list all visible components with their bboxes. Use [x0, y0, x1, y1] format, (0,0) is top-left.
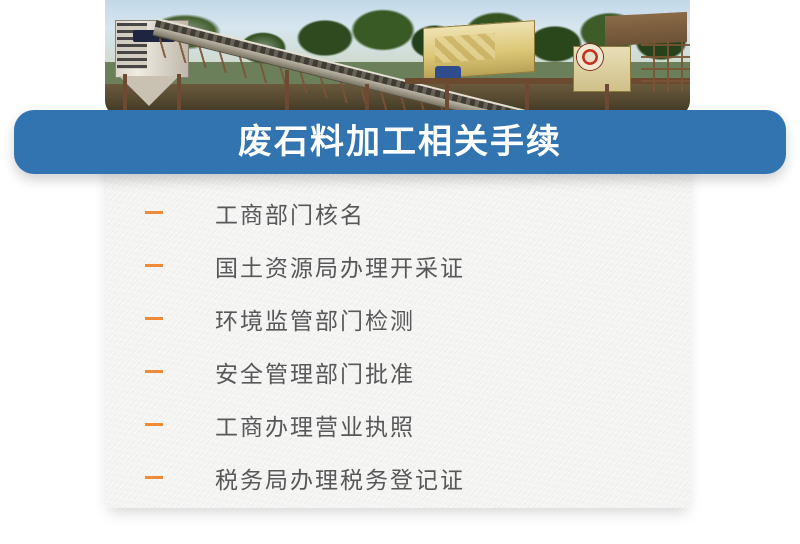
title-banner: 废石料加工相关手续 — [14, 110, 786, 174]
list-item: 税务局办理税务登记证 — [105, 451, 691, 504]
dash-bullet-icon — [145, 317, 163, 320]
banner-title: 废石料加工相关手续 — [238, 125, 562, 159]
list-item: 工商办理营业执照 — [105, 398, 691, 451]
list-item: 环境监管部门检测 — [105, 292, 691, 345]
dash-bullet-icon — [145, 211, 163, 214]
procedure-list: 工商部门核名 国土资源局办理开采证 环境监管部门检测 安全管理部门批准 工商办理… — [105, 186, 691, 504]
list-item-label: 工商办理营业执照 — [215, 408, 415, 442]
hopper-funnel — [119, 76, 179, 106]
list-item: 安全管理部门批准 — [105, 345, 691, 398]
dash-bullet-icon — [145, 423, 163, 426]
list-item-label: 税务局办理税务登记证 — [215, 461, 465, 495]
list-item-label: 国土资源局办理开采证 — [215, 249, 465, 283]
list-item-label: 安全管理部门批准 — [215, 355, 415, 389]
right-steel-frame — [641, 40, 690, 92]
flywheel — [577, 44, 603, 70]
header-photo — [105, 0, 690, 118]
dash-bullet-icon — [145, 370, 163, 373]
crushing-plant-photo — [105, 0, 690, 118]
infographic-root: 工商部门核名 国土资源局办理开采证 环境监管部门检测 安全管理部门批准 工商办理… — [0, 0, 800, 544]
list-item: 工商部门核名 — [105, 186, 691, 239]
list-item: 国土资源局办理开采证 — [105, 239, 691, 292]
list-item-label: 环境监管部门检测 — [215, 302, 415, 336]
dash-bullet-icon — [145, 264, 163, 267]
dash-bullet-icon — [145, 476, 163, 479]
content-panel: 工商部门核名 国土资源局办理开采证 环境监管部门检测 安全管理部门批准 工商办理… — [105, 140, 691, 508]
list-item-label: 工商部门核名 — [215, 196, 365, 230]
